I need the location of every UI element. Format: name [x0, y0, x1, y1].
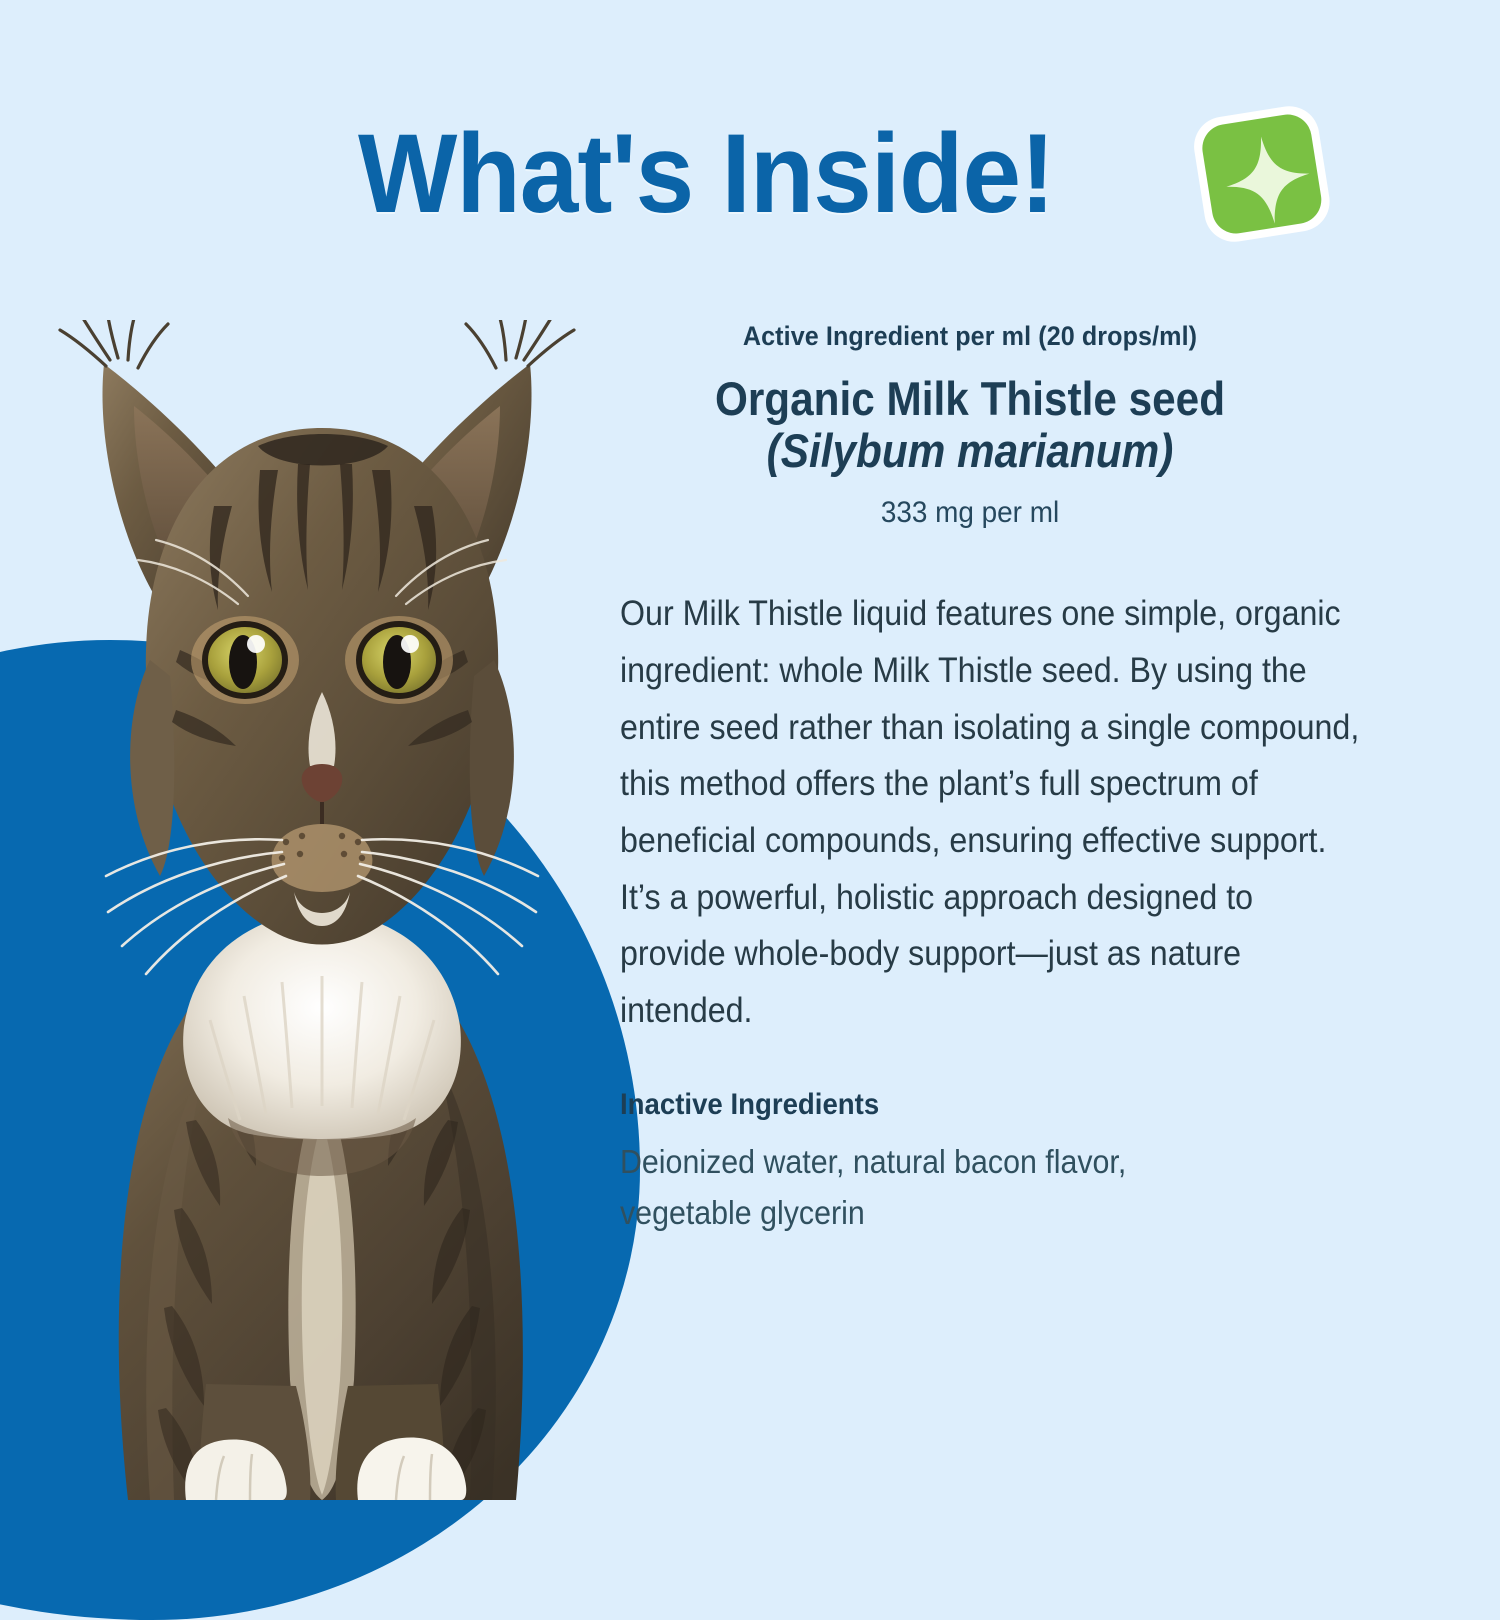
product-infographic: What's Inside! [0, 0, 1500, 1500]
page-title: What's Inside! [358, 118, 1054, 230]
inactive-ingredients-heading: Inactive Ingredients [620, 1088, 1384, 1122]
sparkle-badge-icon [1185, 95, 1340, 255]
inactive-ingredients-list: Deionized water, natural bacon flavor, v… [620, 1136, 1264, 1238]
description-paragraph: Our Milk Thistle liquid features one sim… [620, 586, 1365, 1040]
ingredient-panel: Active Ingredient per ml (20 drops/ml) O… [620, 320, 1450, 1238]
ingredient-head-block: Active Ingredient per ml (20 drops/ml) O… [620, 320, 1320, 530]
ingredient-dose: 333 mg per ml [645, 496, 1296, 530]
active-ingredient-label: Active Ingredient per ml (20 drops/ml) [645, 320, 1296, 352]
header: What's Inside! [0, 0, 1500, 300]
ingredient-name: Organic Milk Thistle seed [655, 374, 1285, 424]
ingredient-latin-name: (Silybum marianum) [655, 425, 1285, 477]
maine-coon-cat-photo [10, 320, 630, 1500]
